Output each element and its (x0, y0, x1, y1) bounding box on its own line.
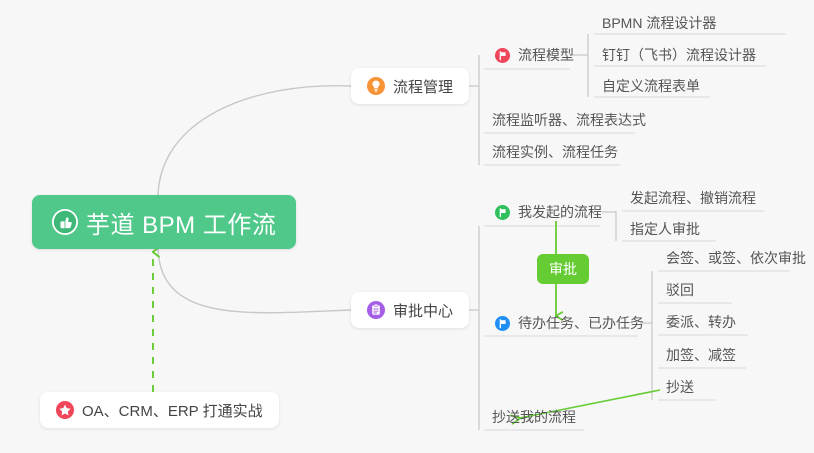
node-listener-expression[interactable]: 流程监听器、流程表达式 (484, 105, 656, 135)
node-cc[interactable]: 抄送 (658, 372, 704, 402)
node-label-my-initiated: 我发起的流程 (518, 202, 602, 222)
node-reject[interactable]: 驳回 (658, 275, 704, 305)
node-delegate-transfer[interactable]: 委派、转办 (658, 307, 746, 337)
node-custom-process-form[interactable]: 自定义流程表单 (594, 71, 710, 101)
node-label-add-remove-sign: 加签、减签 (666, 345, 736, 365)
branch-node-process-management[interactable]: 流程管理 (351, 68, 469, 104)
node-label-countersign: 会签、或签、依次审批 (666, 248, 806, 268)
flag-icon (495, 316, 510, 331)
thumbs-up-icon (52, 209, 78, 235)
node-label-bpmn-designer: BPMN 流程设计器 (602, 13, 716, 33)
node-label-start-cancel: 发起流程、撤销流程 (630, 188, 756, 208)
footnote-label: OA、CRM、ERP 打通实战 (82, 400, 263, 421)
clipboard-icon (367, 301, 385, 319)
branch-node-approval-center[interactable]: 审批中心 (351, 292, 469, 328)
branch-label-process-management: 流程管理 (393, 76, 453, 97)
node-add-remove-sign[interactable]: 加签、减签 (658, 340, 746, 370)
mindmap-canvas: 芋道 BPM 工作流 流程管理 流程模型 BPMN 流程设计器 钉 (0, 0, 814, 453)
node-countersign[interactable]: 会签、或签、依次审批 (658, 243, 814, 273)
approval-badge[interactable]: 审批 (537, 254, 589, 284)
node-label-custom-process-form: 自定义流程表单 (602, 76, 700, 96)
node-label-listener-expression: 流程监听器、流程表达式 (492, 110, 646, 130)
flag-icon (495, 205, 510, 220)
node-bpmn-designer[interactable]: BPMN 流程设计器 (594, 8, 726, 38)
approval-badge-label: 审批 (549, 259, 577, 279)
node-my-initiated[interactable]: 我发起的流程 (489, 197, 612, 227)
lightbulb-icon (367, 77, 385, 95)
node-label-todo-done: 待办任务、已办任务 (518, 313, 644, 333)
root-node[interactable]: 芋道 BPM 工作流 (32, 195, 296, 249)
node-cc-to-me[interactable]: 抄送我的流程 (484, 402, 586, 432)
node-assignee-approval[interactable]: 指定人审批 (622, 214, 710, 244)
star-icon (56, 401, 74, 419)
node-start-cancel[interactable]: 发起流程、撤销流程 (622, 183, 766, 213)
node-dingtalk-feishu-designer[interactable]: 钉钉（飞书）流程设计器 (594, 40, 766, 70)
footnote-node[interactable]: OA、CRM、ERP 打通实战 (40, 392, 279, 428)
connector-root-to-process-management (158, 86, 351, 196)
node-label-cc: 抄送 (666, 377, 694, 397)
node-label-dingtalk-feishu-designer: 钉钉（飞书）流程设计器 (602, 45, 756, 65)
node-label-delegate-transfer: 委派、转办 (666, 312, 736, 332)
connector-root-to-approval-center (158, 248, 351, 313)
flag-icon (495, 48, 510, 63)
node-label-process-model: 流程模型 (518, 45, 574, 65)
node-label-assignee-approval: 指定人审批 (630, 219, 700, 239)
node-instance-task[interactable]: 流程实例、流程任务 (484, 137, 628, 167)
node-label-cc-to-me: 抄送我的流程 (492, 407, 576, 427)
node-process-model[interactable]: 流程模型 (489, 40, 584, 70)
node-label-reject: 驳回 (666, 280, 694, 300)
node-label-instance-task: 流程实例、流程任务 (492, 142, 618, 162)
root-label: 芋道 BPM 工作流 (86, 205, 276, 240)
node-todo-done[interactable]: 待办任务、已办任务 (489, 308, 654, 338)
branch-label-approval-center: 审批中心 (393, 300, 453, 321)
